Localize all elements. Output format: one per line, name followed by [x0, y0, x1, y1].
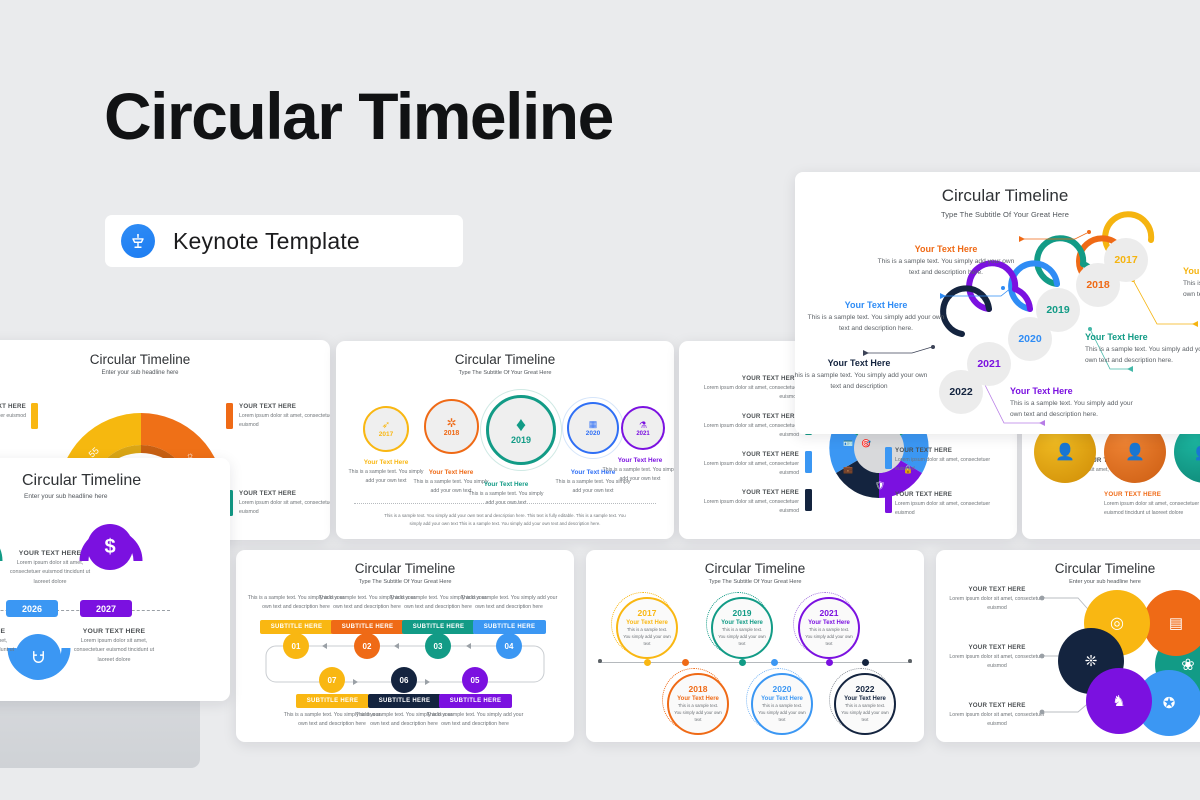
chess-icon[interactable]: ♞: [1086, 668, 1152, 734]
podium-icon: [121, 224, 155, 258]
featured-caption-2022: Your Text Here This is a sample text. Yo…: [795, 358, 929, 393]
featured-node-2018[interactable]: 2018: [1076, 263, 1120, 307]
calculator-icon: ▦: [589, 419, 598, 430]
slide-e-subtitle: Type The Subtitle Of Your Great Here: [236, 579, 574, 585]
keynote-template-badge[interactable]: Keynote Template: [105, 215, 463, 267]
slide-f-bot-1[interactable]: 2018 Your Text Here This is a sample tex…: [667, 673, 729, 735]
slide-overlap-caption-2: YOUR TEXT HERE Lorem ipsum dolor sit ame…: [0, 628, 16, 665]
gear-icon: ✲: [446, 416, 456, 430]
swatch-blue-2: [885, 447, 892, 469]
svg-text:🪪: 🪪: [843, 439, 853, 448]
slide-a-item-right-1: YOUR TEXT HERE Lorem ipsum dolor sit ame…: [239, 403, 330, 430]
swatch-purple: [885, 491, 892, 513]
swatch-blue: [805, 451, 812, 473]
slide-overlap-subtitle: Enter your sub headline here: [0, 493, 230, 500]
slide-b-step-ring-4[interactable]: ▦ 2020: [567, 402, 619, 454]
slide-e-top-num-1[interactable]: 01: [283, 633, 309, 659]
featured-caption-2017: Your Text Here This is a sample text. Yo…: [1183, 266, 1200, 301]
slide-a-item-right-2: YOUR TEXT HERE Lorem ipsum dolor sit ame…: [239, 490, 330, 517]
slide-e-top-num-4[interactable]: 04: [496, 633, 522, 659]
slide-e-bot-pill-2[interactable]: SUBTITLE HERE: [368, 694, 441, 708]
badge-label: Keynote Template: [173, 228, 360, 255]
slide-f-title: Circular Timeline: [586, 561, 924, 576]
slide-thumbnail-process-steps[interactable]: Circular Timeline Type The Subtitle Of Y…: [236, 550, 574, 742]
featured-node-2020[interactable]: 2020: [1008, 317, 1052, 361]
slide-a-subtitle: Enter your sub headline here: [0, 370, 330, 376]
slide-e-bot-pill-1[interactable]: SUBTITLE HERE: [296, 694, 369, 708]
slide-thumbnail-overlapping-bubbles[interactable]: Circular Timeline Enter your sub headlin…: [936, 550, 1200, 742]
slide-thumbnail-year-timeline-overlay[interactable]: Circular Timeline Enter your sub headlin…: [0, 458, 230, 701]
magnet-icon[interactable]: [15, 634, 61, 680]
slide-f-dot-5: [771, 659, 778, 666]
slide-f-top-3[interactable]: 2021 Your Text Here This is a sample tex…: [798, 597, 860, 659]
slide-e-bot-num-1[interactable]: 07: [319, 667, 345, 693]
diamond-icon: ♦: [516, 415, 526, 435]
slide-overlap-caption-3: YOUR TEXT HERE Lorem ipsum dolor sit ame…: [72, 628, 156, 665]
slide-f-dot-3: [826, 659, 833, 666]
briefcase-icon[interactable]: ▤: [1143, 590, 1200, 656]
swatch-yellow: [31, 403, 38, 429]
swatch-navy: [805, 489, 812, 511]
rocket-icon: ➶: [382, 420, 390, 431]
slide-c-left-2: YOUR TEXT HERELorem ipsum dolor sit amet…: [691, 413, 799, 440]
slide-a-title: Circular Timeline: [0, 352, 330, 367]
slide-f-top-1[interactable]: 2017 Your Text Here This is a sample tex…: [616, 597, 678, 659]
slide-b-baseline: [354, 503, 656, 504]
slide-f-dot-1: [644, 659, 651, 666]
page-title: Circular Timeline: [104, 82, 613, 151]
slide-b-footer: This is a sample text. You simply add yo…: [378, 512, 632, 529]
slide-e-bot-num-2[interactable]: 06: [391, 667, 417, 693]
slide-b-step-ring-1[interactable]: ➶ 2017: [363, 406, 409, 452]
svg-text:🛡: 🛡: [875, 481, 885, 490]
slide-e-top-num-2[interactable]: 02: [354, 633, 380, 659]
slide-e-bot-num-3[interactable]: 05: [462, 667, 488, 693]
page-root: Circular Timeline Keynote Template Circu…: [0, 0, 1200, 800]
year-chip-2026[interactable]: 2026: [6, 600, 58, 617]
year-chip-2027[interactable]: 2027: [80, 600, 132, 617]
featured-caption-2018: Your Text Here This is a sample text. Yo…: [873, 244, 1019, 279]
slide-b-step-ring-5[interactable]: ⚗ 2021: [621, 406, 665, 450]
slide-f-bot-3[interactable]: 2022 Your Text Here This is a sample tex…: [834, 673, 896, 735]
featured-node-2022[interactable]: 2022: [939, 370, 983, 414]
slide-e-top-num-3[interactable]: 03: [425, 633, 451, 659]
slide-f-dot-6: [862, 659, 869, 666]
slide-overlap-caption-1: YOUR TEXT HERE Lorem ipsum dolor sit ame…: [8, 550, 92, 587]
slide-f-bot-2[interactable]: 2020 Your Text Here This is a sample tex…: [751, 673, 813, 735]
swatch-orange: [226, 403, 233, 429]
slide-a-item-left: YOUR TEXT HERE Lorem ipsum dolor sit ame…: [0, 403, 26, 421]
slide-c-left-3: YOUR TEXT HERELorem ipsum dolor sit amet…: [691, 451, 799, 478]
slide-featured-s-curve-timeline[interactable]: Circular Timeline Type The Subtitle Of Y…: [795, 172, 1200, 434]
slide-e-top-pill-1[interactable]: SUBTITLE HERE: [260, 620, 333, 634]
slide-b-subtitle: Type The Subtitle Of Your Great Here: [336, 370, 674, 376]
slide-e-title: Circular Timeline: [236, 561, 574, 576]
slide-e-top-pill-3[interactable]: SUBTITLE HERE: [402, 620, 475, 634]
svg-text:🎯: 🎯: [861, 439, 871, 448]
slide-thumbnail-year-circles[interactable]: Circular Timeline Type The Subtitle Of Y…: [586, 550, 924, 742]
slide-f-dot-4: [682, 659, 689, 666]
axis-end-left: [598, 659, 602, 663]
slide-c-right-3: YOUR TEXT HERELorem ipsum dolor sit amet…: [895, 491, 1003, 518]
slide-e-top-text-4: This is a sample text. You simply add yo…: [459, 594, 559, 612]
slide-e-top-pill-2[interactable]: SUBTITLE HERE: [331, 620, 404, 634]
featured-caption-2021: Your Text Here This is a sample text. Yo…: [1010, 386, 1142, 421]
dollar-icon[interactable]: $: [87, 524, 133, 570]
slide-e-bot-pill-3[interactable]: SUBTITLE HERE: [439, 694, 512, 708]
slide-c-right-2: YOUR TEXT HERELorem ipsum dolor sit amet…: [895, 447, 1003, 474]
slide-b-caption-5: Your Text Here This is a sample text. Yo…: [601, 457, 674, 484]
slide-c-left-1: YOUR TEXT HERELorem ipsum dolor sit amet…: [691, 375, 799, 402]
slide-b-step-ring-3[interactable]: ♦ 2019: [486, 395, 556, 465]
featured-caption-2020: Your Text Here This is a sample text. Yo…: [803, 300, 949, 335]
flask-icon: ⚗: [639, 420, 647, 431]
slide-e-bot-text-3: This is a sample text. You simply add yo…: [425, 711, 525, 729]
slide-f-subtitle: Type The Subtitle Of Your Great Here: [586, 579, 924, 585]
slide-thumbnail-five-rings[interactable]: Circular Timeline Type The Subtitle Of Y…: [336, 341, 674, 539]
axis-end-right: [908, 659, 912, 663]
featured-caption-2019: Your Text Here This is a sample text. Yo…: [1085, 332, 1200, 367]
slide-f-top-2[interactable]: 2019 Your Text Here This is a sample tex…: [711, 597, 773, 659]
slide-b-step-ring-2[interactable]: ✲ 2018: [424, 399, 479, 454]
slide-b-title: Circular Timeline: [336, 352, 674, 367]
slide-overlap-title: Circular Timeline: [0, 472, 230, 490]
slide-f-dot-2: [739, 659, 746, 666]
slide-d-callout: YOUR TEXT HERE Lorem ipsum dolor sit ame…: [1104, 491, 1200, 518]
slide-c-left-4: YOUR TEXT HERELorem ipsum dolor sit amet…: [691, 489, 799, 516]
slide-e-top-pill-4[interactable]: SUBTITLE HERE: [473, 620, 546, 634]
svg-text:💼: 💼: [843, 465, 853, 474]
